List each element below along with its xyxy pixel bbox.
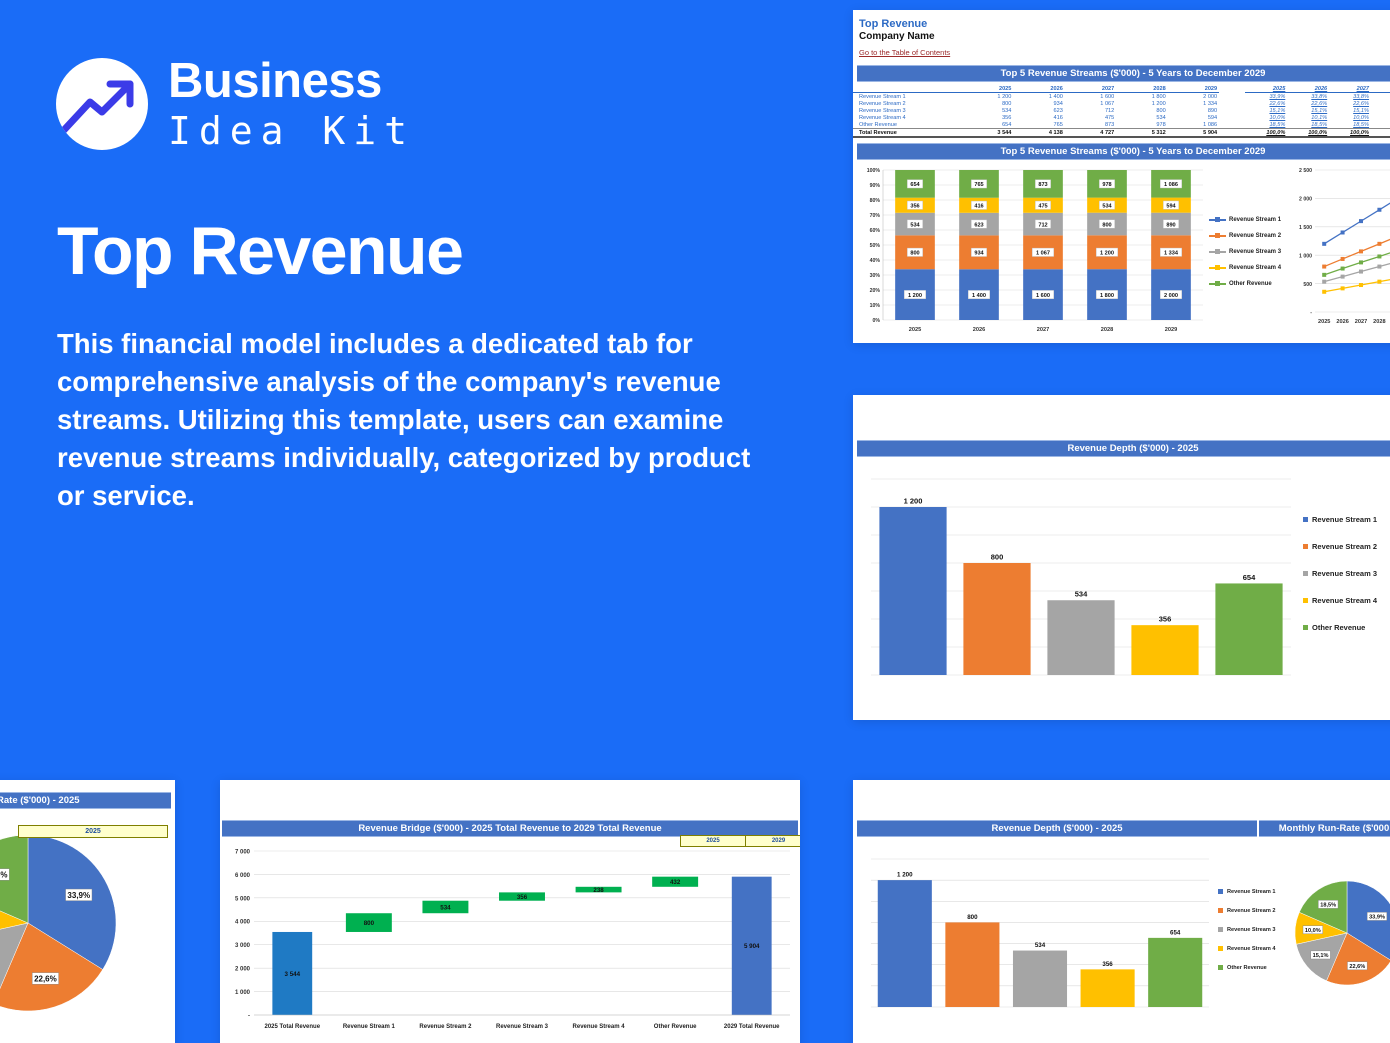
brand-name-secondary: Idea Kit <box>168 112 415 150</box>
svg-text:2028: 2028 <box>1101 327 1113 333</box>
svg-text:Other Revenue: Other Revenue <box>654 1024 697 1030</box>
svg-text:2025: 2025 <box>909 327 921 333</box>
stacked-bar-chart: 0%10%20%30%40%50%60%70%80%90%100%1 20080… <box>857 162 1207 341</box>
legend-item: Revenue Stream 3 <box>1209 248 1291 255</box>
legend-swatch-5 <box>1218 965 1223 970</box>
svg-text:2029 Total Revenue: 2029 Total Revenue <box>724 1024 780 1030</box>
svg-text:2025 Total Revenue: 2025 Total Revenue <box>264 1024 320 1030</box>
svg-text:5 904: 5 904 <box>744 943 760 950</box>
svg-text:33,9%: 33,9% <box>1369 914 1385 920</box>
svg-text:20%: 20% <box>870 288 881 294</box>
svg-text:475: 475 <box>1038 204 1047 210</box>
brand-wordmark: Business Idea Kit <box>168 57 415 150</box>
svg-text:22,6%: 22,6% <box>1349 964 1365 970</box>
legend-label: Revenue Stream 4 <box>1229 265 1281 271</box>
legend-swatch-4 <box>1303 598 1308 603</box>
legend-item: Revenue Stream 3 <box>1218 927 1285 933</box>
table-row: Revenue Stream 3 534 623 712 800 890 15,… <box>853 107 1390 114</box>
svg-text:18,5%: 18,5% <box>0 870 7 879</box>
svg-text:1 400: 1 400 <box>972 293 986 299</box>
run-rate-pie-body: 2025 33,9%22,6%15,1%10,0%18,5% <box>0 823 175 1043</box>
svg-text:18,5%: 18,5% <box>1320 902 1336 908</box>
svg-text:2026: 2026 <box>1336 319 1348 325</box>
svg-text:5 000: 5 000 <box>235 896 251 902</box>
legend-label: Revenue Stream 4 <box>1227 946 1276 952</box>
svg-text:10%: 10% <box>870 303 881 309</box>
monthly-run-rate-pie: 33,9%22,6%15,1%10,0%18,5% <box>1285 841 1390 1021</box>
page-description: This financial model includes a dedicate… <box>57 325 757 515</box>
svg-text:356: 356 <box>1159 615 1172 624</box>
svg-text:800: 800 <box>1102 222 1111 228</box>
legend-swatch-1 <box>1303 517 1308 522</box>
svg-text:1 500: 1 500 <box>1299 225 1312 231</box>
logo-badge <box>56 58 148 150</box>
chart-band-title: Top 5 Revenue Streams ($'000) - 5 Years … <box>857 143 1390 160</box>
svg-text:2026: 2026 <box>973 327 985 333</box>
bridge-year-slicer[interactable]: 2025 2029 <box>680 835 800 847</box>
svg-text:534: 534 <box>1075 590 1088 599</box>
run-rate-pie-chart: 33,9%22,6%15,1%10,0%18,5% <box>0 823 175 1033</box>
revenue-depth-legend-small: Revenue Stream 1Revenue Stream 2Revenue … <box>1215 841 1285 1018</box>
legend-swatch-2 <box>1303 544 1308 549</box>
svg-text:1 000: 1 000 <box>1299 253 1312 259</box>
legend-marker-2 <box>1209 232 1226 239</box>
svg-text:238: 238 <box>593 887 604 894</box>
pctcol-2027: 2027 <box>1329 85 1371 93</box>
col-2028: 2028 <box>1116 85 1167 93</box>
revenue-bridge-body: 2025 2029 -1 0002 0003 0004 0005 0006 00… <box>220 837 800 1043</box>
row-label: Revenue Stream 4 <box>853 114 962 121</box>
slicer-option-2025[interactable]: 2025 <box>680 835 746 847</box>
screenshot-card-revenue-bridge: Revenue Bridge ($'000) - 2025 Total Reve… <box>220 780 800 1043</box>
legend-item: Other Revenue <box>1218 965 1285 971</box>
legend-label: Revenue Stream 3 <box>1229 249 1281 255</box>
total-label: Total Revenue <box>853 129 962 138</box>
legend-marker-5 <box>1209 280 1226 287</box>
row-label: Revenue Stream 1 <box>853 93 962 101</box>
pctcol-2028: 2028 <box>1371 85 1390 93</box>
legend-item: Revenue Stream 4 <box>1303 596 1390 605</box>
svg-text:-: - <box>1310 310 1312 316</box>
revenue-depth-legend: Revenue Stream 1Revenue Stream 2Revenue … <box>1297 461 1390 685</box>
svg-text:800: 800 <box>910 251 919 257</box>
legend-item: Revenue Stream 1 <box>1218 889 1285 895</box>
table-of-contents-link[interactable]: Go to the Table of Contents <box>859 48 950 57</box>
table-header-row: 2025 2026 2027 2028 2029 2025 2026 2027 … <box>853 85 1390 93</box>
row-label: Revenue Stream 2 <box>853 100 962 107</box>
legend-item: Revenue Stream 2 <box>1218 908 1285 914</box>
legend-swatch-3 <box>1218 927 1223 932</box>
svg-text:534: 534 <box>910 222 920 228</box>
legend-marker-3 <box>1209 248 1226 255</box>
revenue-depth-body: 1 200800534356654 Revenue Stream 1Revenu… <box>853 457 1390 689</box>
legend-marker-1 <box>1209 216 1226 223</box>
legend-label: Revenue Stream 2 <box>1229 233 1281 239</box>
pctcol-2026: 2026 <box>1287 85 1329 93</box>
trend-up-arrow-icon <box>56 58 148 150</box>
svg-text:2028: 2028 <box>1373 319 1385 325</box>
revenue-depth-bars-small: 1 200800534356654 <box>857 841 1215 1021</box>
svg-text:90%: 90% <box>870 183 881 189</box>
legend-swatch-2 <box>1218 908 1223 913</box>
svg-text:978: 978 <box>1102 182 1111 188</box>
table-row: Revenue Stream 4 356 416 475 534 594 10,… <box>853 114 1390 121</box>
legend-item: Revenue Stream 2 <box>1303 542 1390 551</box>
svg-text:7 000: 7 000 <box>235 849 251 855</box>
poster-canvas: Business Idea Kit Top Revenue This finan… <box>0 0 1390 1043</box>
svg-text:1 334: 1 334 <box>1164 251 1179 257</box>
svg-text:765: 765 <box>974 182 983 188</box>
svg-text:40%: 40% <box>870 258 881 264</box>
svg-text:Revenue Stream 1: Revenue Stream 1 <box>343 1024 396 1030</box>
legend-label: Revenue Stream 2 <box>1312 542 1377 551</box>
svg-text:500: 500 <box>1303 282 1312 288</box>
svg-text:4 000: 4 000 <box>235 920 251 926</box>
svg-text:3 000: 3 000 <box>235 943 251 949</box>
svg-text:2027: 2027 <box>1355 319 1367 325</box>
slicer-option-2029[interactable]: 2029 <box>746 835 800 847</box>
bottom-band-title-right: Monthly Run-Rate ($'000 <box>1259 820 1390 837</box>
company-name: Company Name <box>859 31 1390 42</box>
svg-text:1 000: 1 000 <box>235 990 251 996</box>
svg-text:800: 800 <box>364 920 375 927</box>
svg-text:15,1%: 15,1% <box>1313 953 1329 959</box>
legend-label: Other Revenue <box>1227 965 1267 971</box>
svg-text:416: 416 <box>974 204 983 210</box>
stacked-chart-legend: Revenue Stream 1Revenue Stream 2Revenue … <box>1207 162 1291 341</box>
svg-text:3 544: 3 544 <box>285 971 301 978</box>
svg-text:873: 873 <box>1038 182 1047 188</box>
svg-text:100%: 100% <box>867 168 881 174</box>
year-slicer-button[interactable]: 2025 <box>18 825 168 838</box>
legend-label: Revenue Stream 3 <box>1312 569 1377 578</box>
legend-swatch-3 <box>1303 571 1308 576</box>
legend-swatch-1 <box>1218 889 1223 894</box>
svg-text:1 200: 1 200 <box>904 497 923 506</box>
sheet-title: Top Revenue <box>859 18 1390 30</box>
screenshot-card-revenue-depth: Revenue Depth ($'000) - 2025 1 200800534… <box>853 395 1390 720</box>
svg-text:2027: 2027 <box>1037 327 1049 333</box>
svg-text:356: 356 <box>910 204 919 210</box>
svg-text:534: 534 <box>1035 942 1046 949</box>
svg-text:60%: 60% <box>870 228 881 234</box>
legend-item: Revenue Stream 1 <box>1303 515 1390 524</box>
svg-text:432: 432 <box>670 879 681 886</box>
excel-sheet: Top Revenue Company Name Go to the Table… <box>853 18 1390 343</box>
legend-item: Revenue Stream 2 <box>1209 232 1291 239</box>
legend-label: Revenue Stream 4 <box>1312 596 1377 605</box>
brand-logo: Business Idea Kit <box>56 57 415 150</box>
svg-text:1 200: 1 200 <box>908 293 922 299</box>
brand-name-primary: Business <box>168 57 415 106</box>
svg-text:2 000: 2 000 <box>1299 197 1312 203</box>
col-2025: 2025 <box>962 85 1013 93</box>
page-title: Top Revenue <box>57 212 462 290</box>
table-row: Other Revenue 654 765 873 978 1 086 18,5… <box>853 121 1390 129</box>
run-rate-band-title: Run-Rate ($'000) - 2025 <box>0 792 171 809</box>
svg-text:2025: 2025 <box>1318 319 1330 325</box>
svg-text:534: 534 <box>440 904 451 911</box>
svg-text:70%: 70% <box>870 213 881 219</box>
svg-text:800: 800 <box>967 914 978 921</box>
table-band-title: Top 5 Revenue Streams ($'000) - 5 Years … <box>857 65 1390 82</box>
svg-text:1 067: 1 067 <box>1036 251 1050 257</box>
svg-text:-: - <box>248 1013 250 1019</box>
legend-item: Revenue Stream 4 <box>1209 264 1291 271</box>
svg-text:534: 534 <box>1102 203 1112 209</box>
pctcol-2025: 2025 <box>1245 85 1287 93</box>
svg-text:0%: 0% <box>873 318 881 324</box>
screenshot-card-run-rate-pie: Run-Rate ($'000) - 2025 2025 33,9%22,6%1… <box>0 780 175 1043</box>
svg-text:1 200: 1 200 <box>897 872 913 879</box>
svg-text:356: 356 <box>517 894 528 901</box>
svg-text:80%: 80% <box>870 198 881 204</box>
table-row: Revenue Stream 2 800 934 1 067 1 200 1 3… <box>853 100 1390 107</box>
svg-text:654: 654 <box>910 182 920 188</box>
screenshot-card-spreadsheet: Top Revenue Company Name Go to the Table… <box>853 10 1390 343</box>
svg-text:654: 654 <box>1243 573 1256 582</box>
col-2029: 2029 <box>1168 85 1219 93</box>
legend-item: Revenue Stream 4 <box>1218 946 1285 952</box>
svg-text:10,0%: 10,0% <box>1305 928 1321 934</box>
legend-label: Revenue Stream 1 <box>1229 217 1281 223</box>
svg-text:800: 800 <box>991 553 1004 562</box>
svg-text:654: 654 <box>1170 929 1181 936</box>
screenshot-card-depth-and-pie: Revenue Depth ($'000) - 2025 Monthly Run… <box>853 780 1390 1043</box>
svg-text:934: 934 <box>974 251 984 257</box>
legend-label: Revenue Stream 3 <box>1227 927 1276 933</box>
legend-swatch-4 <box>1218 946 1223 951</box>
svg-text:356: 356 <box>1102 961 1113 968</box>
svg-text:1 800: 1 800 <box>1100 293 1114 299</box>
svg-text:1 600: 1 600 <box>1036 293 1050 299</box>
svg-text:6 000: 6 000 <box>235 873 251 879</box>
svg-text:22,6%: 22,6% <box>34 974 57 983</box>
svg-text:1 200: 1 200 <box>1100 251 1114 257</box>
svg-text:Revenue Stream 3: Revenue Stream 3 <box>496 1024 549 1030</box>
legend-item: Other Revenue <box>1303 623 1390 632</box>
svg-text:623: 623 <box>974 222 983 228</box>
svg-text:33,9%: 33,9% <box>67 891 90 900</box>
svg-text:2 000: 2 000 <box>235 967 251 973</box>
legend-label: Revenue Stream 1 <box>1227 889 1276 895</box>
legend-label: Revenue Stream 2 <box>1227 908 1276 914</box>
svg-text:30%: 30% <box>870 273 881 279</box>
bottom-band-title-left: Revenue Depth ($'000) - 2025 <box>857 820 1257 837</box>
row-label: Revenue Stream 3 <box>853 107 962 114</box>
svg-text:2 000: 2 000 <box>1164 293 1178 299</box>
slicer-year-label: 2025 <box>85 828 101 835</box>
revenue-depth-band-title: Revenue Depth ($'000) - 2025 <box>857 440 1390 457</box>
legend-marker-4 <box>1209 264 1226 271</box>
legend-label: Revenue Stream 1 <box>1312 515 1377 524</box>
svg-text:890: 890 <box>1166 222 1175 228</box>
svg-text:Revenue Stream 2: Revenue Stream 2 <box>419 1024 472 1030</box>
revenue-streams-table: 2025 2026 2027 2028 2029 2025 2026 2027 … <box>853 85 1390 138</box>
bottom-charts-row: 1 200800534356654 Revenue Stream 1Revenu… <box>853 837 1390 1022</box>
legend-label: Other Revenue <box>1312 623 1365 632</box>
revenue-depth-bars: 1 200800534356654 <box>857 461 1297 689</box>
table-total-row: Total Revenue 3 544 4 138 4 727 5 312 5 … <box>853 129 1390 138</box>
line-chart: -5001 0001 5002 0002 5002025202620272028… <box>1291 162 1390 341</box>
row-label: Other Revenue <box>853 121 962 129</box>
legend-swatch-5 <box>1303 625 1308 630</box>
col-2027: 2027 <box>1065 85 1116 93</box>
svg-text:Revenue Stream 4: Revenue Stream 4 <box>573 1024 626 1030</box>
svg-text:712: 712 <box>1038 222 1047 228</box>
col-2026: 2026 <box>1013 85 1064 93</box>
bottom-band-row: Revenue Depth ($'000) - 2025 Monthly Run… <box>857 820 1390 837</box>
svg-text:594: 594 <box>1166 203 1176 209</box>
legend-item: Revenue Stream 3 <box>1303 569 1390 578</box>
svg-text:50%: 50% <box>870 243 881 249</box>
top-charts-row: 0%10%20%30%40%50%60%70%80%90%100%1 20080… <box>853 160 1390 343</box>
svg-text:2029: 2029 <box>1165 327 1177 333</box>
waterfall-chart: -1 0002 0003 0004 0005 0006 0007 0003 54… <box>220 837 796 1043</box>
svg-text:1 086: 1 086 <box>1164 182 1178 188</box>
legend-item: Other Revenue <box>1209 280 1291 287</box>
svg-text:2 500: 2 500 <box>1299 168 1312 174</box>
legend-label: Other Revenue <box>1229 281 1272 287</box>
table-row: Revenue Stream 1 1 200 1 400 1 600 1 800… <box>853 93 1390 101</box>
legend-item: Revenue Stream 1 <box>1209 216 1291 223</box>
